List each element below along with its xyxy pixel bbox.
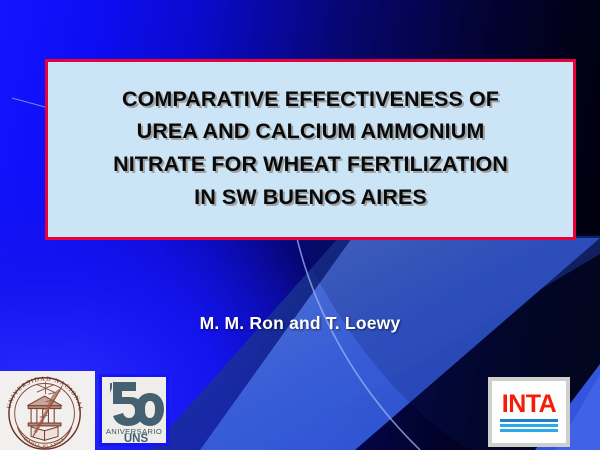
title-line-2: UREA AND CALCIUM AMMONIUM [137, 115, 485, 148]
inta-logo-icon: INTA [492, 381, 566, 443]
title-line-3: NITRATE FOR WHEAT FERTILIZATION [113, 148, 508, 181]
inta-stripes [500, 419, 558, 432]
uns-seal-panel: UNIVERSIDAD NACIONAL DEL SUR BAHIA BLANC… [0, 371, 95, 450]
authors-line: M. M. Ron and T. Loewy [0, 313, 600, 334]
svg-text:UNS: UNS [124, 433, 149, 443]
uns-50-anniversary-panel: ANIVERSARIO UNS [99, 374, 169, 446]
title-line-4: IN SW BUENOS AIRES [194, 181, 427, 214]
inta-wordmark: INTA [502, 393, 556, 416]
university-seal-icon: UNIVERSIDAD NACIONAL DEL SUR BAHIA BLANC… [0, 371, 95, 450]
inta-logo-panel: INTA [488, 377, 570, 447]
presentation-slide: COMPARATIVE EFFECTIVENESS OF UREA AND CA… [0, 0, 600, 450]
anniversary-logo-icon: ANIVERSARIO UNS [102, 377, 166, 443]
title-box: COMPARATIVE EFFECTIVENESS OF UREA AND CA… [45, 59, 576, 240]
title-line-1: COMPARATIVE EFFECTIVENESS OF [122, 83, 499, 116]
